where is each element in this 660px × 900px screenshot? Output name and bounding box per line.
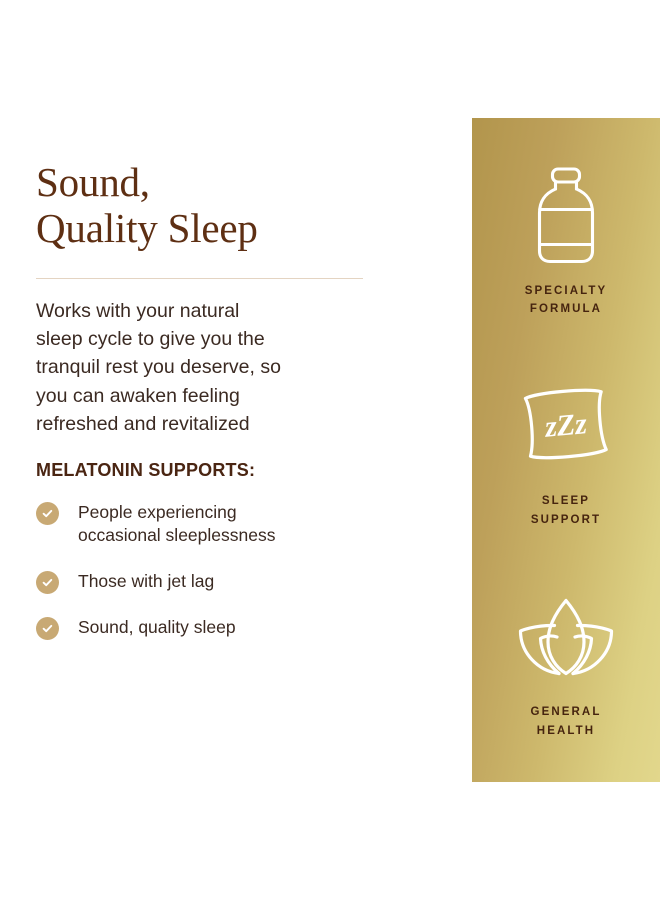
melatonin-supports-heading: MELATONIN SUPPORTS:: [36, 460, 436, 481]
list-item: People experiencing occasional sleepless…: [36, 501, 436, 548]
pillow-zzz-text: zZz: [543, 408, 589, 445]
headline-line-2: Quality Sleep: [36, 206, 436, 252]
headline-line-1: Sound,: [36, 160, 436, 206]
feature-sleep-support: zZz SLEEP SUPPORT: [472, 374, 660, 529]
feature-highlights-panel: SPECIALTY FORMULA zZz SLEEP SUPPORT: [472, 118, 660, 782]
body-copy-line-4: you can awaken feeling: [36, 382, 366, 410]
left-content-column: Sound, Quality Sleep Works with your nat…: [36, 160, 436, 656]
feature-sleep-support-label: SLEEP SUPPORT: [531, 492, 601, 529]
list-item-label: Those with jet lag: [78, 570, 214, 593]
feature-general-health-label: GENERAL HEALTH: [531, 703, 602, 740]
list-item-label-line-1: People experiencing: [78, 501, 275, 524]
body-copy-line-1: Works with your natural: [36, 297, 366, 325]
list-item-label: People experiencing occasional sleepless…: [78, 501, 275, 548]
feature-general-health: GENERAL HEALTH: [472, 585, 660, 740]
list-item-label-line-1: Those with jet lag: [78, 570, 214, 593]
feature-label-line-1: SPECIALTY: [525, 282, 608, 301]
list-item-label-line-2: occasional sleeplessness: [78, 524, 275, 547]
pillow-zzz-icon: zZz: [514, 374, 618, 478]
feature-label-line-1: GENERAL: [531, 703, 602, 722]
headline-divider: [36, 278, 363, 279]
feature-specialty-formula-label: SPECIALTY FORMULA: [525, 282, 608, 319]
body-copy-line-3: tranquil rest you deserve, so: [36, 353, 366, 381]
list-item-label: Sound, quality sleep: [78, 616, 236, 639]
feature-label-line-1: SLEEP: [531, 492, 601, 511]
body-copy-line-5: refreshed and revitalized: [36, 410, 366, 438]
body-copy-line-2: sleep cycle to give you the: [36, 325, 366, 353]
list-item-label-line-1: Sound, quality sleep: [78, 616, 236, 639]
check-circle-icon: [36, 571, 59, 594]
feature-label-line-2: SUPPORT: [531, 511, 601, 530]
supplement-bottle-icon: [530, 164, 602, 268]
page-title: Sound, Quality Sleep: [36, 160, 436, 252]
feature-specialty-formula: SPECIALTY FORMULA: [472, 164, 660, 319]
feature-label-line-2: HEALTH: [531, 722, 602, 741]
list-item: Sound, quality sleep: [36, 616, 436, 640]
list-item: Those with jet lag: [36, 570, 436, 594]
lotus-flower-icon: [514, 585, 618, 689]
check-circle-icon: [36, 502, 59, 525]
product-benefit-infographic: Sound, Quality Sleep Works with your nat…: [0, 0, 660, 900]
benefit-list: People experiencing occasional sleepless…: [36, 501, 436, 640]
feature-label-line-2: FORMULA: [525, 300, 608, 319]
body-copy: Works with your natural sleep cycle to g…: [36, 297, 366, 438]
check-circle-icon: [36, 617, 59, 640]
